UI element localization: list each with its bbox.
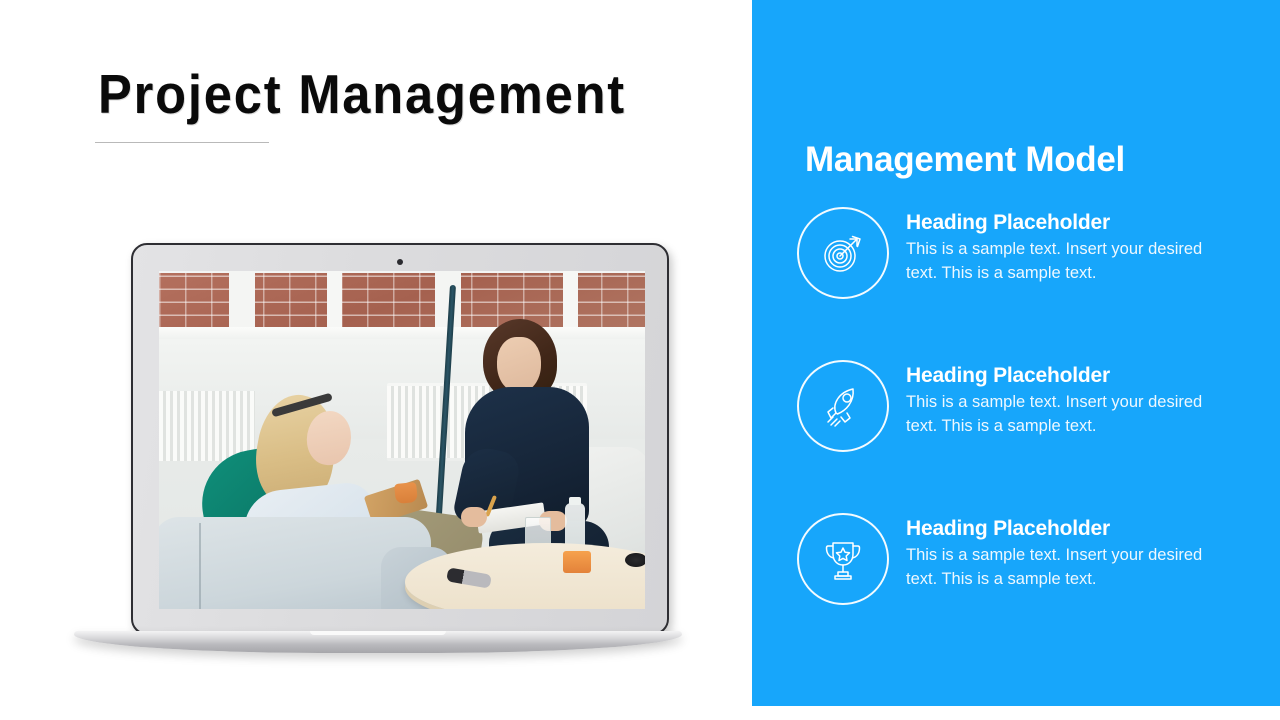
feature-text-block: Heading Placeholder This is a sample tex… — [906, 205, 1236, 286]
feature-item[interactable]: Heading Placeholder This is a sample tex… — [797, 358, 1277, 468]
laptop-mockup — [0, 0, 752, 720]
panel-heading: Management Model — [805, 140, 1125, 180]
laptop-lid — [131, 243, 669, 635]
photo-radiator-left — [159, 391, 255, 461]
photo-bottle — [565, 503, 585, 549]
feature-item[interactable]: Heading Placeholder This is a sample tex… — [797, 511, 1277, 621]
trophy-icon — [797, 513, 889, 605]
photo-window-mullion — [563, 271, 578, 331]
photo-window-mullion — [229, 271, 255, 331]
feature-heading: Heading Placeholder — [906, 211, 1236, 234]
feature-body: This is a sample text. Insert your desir… — [906, 238, 1236, 286]
rocket-icon — [797, 360, 889, 452]
feature-text-block: Heading Placeholder This is a sample tex… — [906, 358, 1236, 439]
photo-bottle-cap — [569, 497, 581, 505]
photo-puck — [625, 553, 645, 567]
feature-item[interactable]: Heading Placeholder This is a sample tex… — [797, 205, 1277, 315]
feature-heading: Heading Placeholder — [906, 364, 1236, 387]
management-model-panel: Management Model Heading Placeholder Thi… — [752, 0, 1280, 706]
photo-sofa-seam — [199, 523, 201, 609]
left-content-pane: Project Management — [0, 0, 752, 720]
laptop-base — [74, 631, 682, 653]
feature-body: This is a sample text. Insert your desir… — [906, 544, 1236, 592]
photo-hand-left — [461, 507, 487, 527]
photo-woman-brunette-face — [497, 337, 541, 393]
webcam-icon — [397, 259, 403, 265]
laptop-base-notch — [310, 631, 446, 635]
photo-candle — [563, 551, 591, 573]
screen-photo — [159, 271, 645, 609]
photo-window-mullion — [327, 271, 342, 331]
target-icon — [797, 207, 889, 299]
feature-heading: Heading Placeholder — [906, 517, 1236, 540]
laptop-screen — [159, 271, 645, 609]
photo-cup — [394, 482, 418, 504]
feature-text-block: Heading Placeholder This is a sample tex… — [906, 511, 1236, 592]
feature-body: This is a sample text. Insert your desir… — [906, 391, 1236, 439]
